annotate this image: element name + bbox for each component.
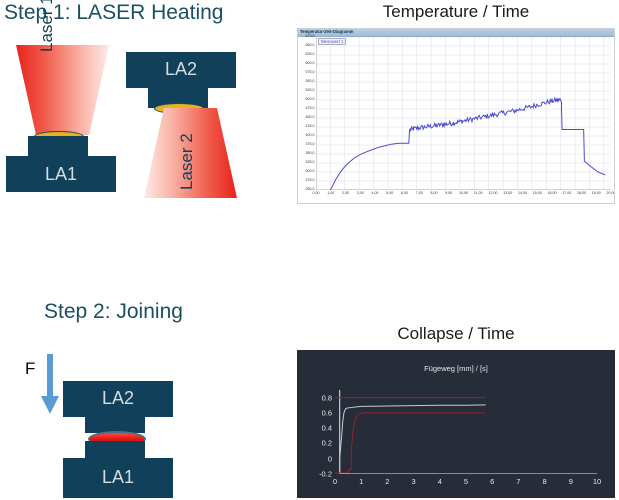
temperature-x-tick: 3,00 — [357, 192, 364, 196]
collapse-inner-title: Fügeweg [mm] / [s] — [297, 364, 615, 373]
collapse-chart-widget[interactable]: Fügeweg [mm] / [s] 0.80.60.40.20-0.20123… — [297, 350, 615, 498]
collapse-x-tick: 6 — [490, 478, 494, 486]
force-arrow-icon — [40, 354, 60, 416]
temperature-y-tick: 550,0 — [306, 80, 315, 84]
temperature-x-tick: 7,00 — [416, 192, 423, 196]
temperature-chart-titlebar: Temperatur-Zeit-Diagramm — [298, 29, 614, 37]
la1-upper-block — [28, 136, 88, 158]
s2-la1-label: LA1 — [63, 467, 173, 488]
collapse-y-tick: -0.2 — [319, 470, 332, 478]
temperature-x-tick: 4,00 — [372, 192, 379, 196]
temperature-y-tick: 475,0 — [306, 107, 315, 111]
temperature-x-tick: 16,00 — [548, 192, 557, 196]
step2-heading: Step 2: Joining — [44, 300, 183, 324]
temperature-x-tick: 9,00 — [445, 192, 452, 196]
temperature-x-tick: 13,00 — [503, 192, 512, 196]
s2-la2-upper-block: LA2 — [63, 381, 173, 417]
temperature-x-tick: 15,00 — [533, 192, 542, 196]
temperature-y-tick: 350,0 — [306, 152, 315, 156]
la2-upper-block: LA2 — [126, 52, 236, 88]
laser1-beam-cone — [10, 45, 115, 135]
temperature-chart-title: Temperature / Time — [296, 2, 616, 22]
s2-la2-label: LA2 — [63, 388, 173, 409]
temperature-y-tick: 300,0 — [306, 170, 315, 174]
temperature-y-tick: 575,0 — [306, 71, 315, 75]
collapse-series-measurement — [340, 405, 486, 474]
collapse-y-tick: 0.4 — [322, 424, 332, 432]
temperature-y-tick: 600,0 — [306, 62, 315, 66]
temperature-y-tick: 425,0 — [306, 125, 315, 129]
temperature-y-tick: 275,0 — [306, 179, 315, 183]
collapse-series-lower-limit — [335, 413, 486, 473]
temperature-y-tick: 675,0 — [306, 35, 315, 39]
temperature-y-tick: 525,0 — [306, 89, 315, 93]
collapse-x-tick: 3 — [412, 478, 416, 486]
laser2-label-text: Laser 2 — [177, 133, 196, 190]
temperature-x-tick: 20,00 — [607, 192, 616, 196]
temperature-x-tick: 5,00 — [386, 192, 393, 196]
temperature-y-tick: 450,0 — [306, 116, 315, 120]
temperature-y-tick: 500,0 — [306, 98, 315, 102]
collapse-x-tick: 0 — [333, 478, 337, 486]
laser2-label: Laser 2 — [177, 110, 197, 190]
temperature-x-tick: 2,00 — [342, 192, 349, 196]
collapse-x-tick: 7 — [516, 478, 520, 486]
temperature-x-tick: 8,00 — [431, 192, 438, 196]
laser1-label-text: Laser 1 — [37, 0, 56, 52]
temperature-x-tick: 6,00 — [401, 192, 408, 196]
la1-lower-block: LA1 — [6, 156, 116, 192]
temperature-x-tick: 14,00 — [518, 192, 527, 196]
temperature-chart-widget[interactable]: Temperatur-Zeit-Diagramm Messwert 1 675,… — [297, 28, 615, 204]
temperature-x-tick: 10,00 — [459, 192, 468, 196]
collapse-x-tick: 10 — [593, 478, 601, 486]
temperature-y-tick: 650,0 — [306, 44, 315, 48]
temperature-trace — [316, 37, 611, 190]
temperature-plot-area[interactable]: 675,0650,0625,0600,0575,0550,0525,0500,0… — [316, 37, 611, 190]
collapse-chart-title: Collapse / Time — [296, 324, 616, 344]
temperature-y-tick: 625,0 — [306, 53, 315, 57]
collapse-x-tick: 8 — [543, 478, 547, 486]
temperature-x-tick: 17,00 — [562, 192, 571, 196]
collapse-x-tick: 5 — [464, 478, 468, 486]
collapse-y-tick: 0 — [328, 455, 332, 463]
temperature-x-tick: 11,00 — [474, 192, 483, 196]
collapse-x-tick: 1 — [359, 478, 363, 486]
temperature-x-tick: 1,00 — [327, 192, 334, 196]
collapse-plot-area[interactable]: 0.80.60.40.20-0.2012345678910 — [335, 390, 597, 474]
la2-label: LA2 — [126, 59, 236, 80]
collapse-x-tick: 4 — [438, 478, 442, 486]
la1-label: LA1 — [6, 164, 116, 185]
collapse-traces — [335, 390, 597, 474]
temperature-y-tick: 325,0 — [306, 161, 315, 165]
s2-la1-lower-block: LA1 — [63, 458, 173, 498]
force-label: F — [25, 359, 35, 379]
collapse-y-tick: 0.6 — [322, 409, 332, 417]
laser1-label: Laser 1 — [37, 0, 57, 52]
temperature-y-tick: 400,0 — [306, 134, 315, 138]
temperature-x-tick: 18,00 — [577, 192, 586, 196]
temperature-x-tick: 19,00 — [592, 192, 601, 196]
temperature-x-tick: 0,00 — [313, 192, 320, 196]
collapse-x-tick: 2 — [385, 478, 389, 486]
collapse-y-tick: 0.2 — [322, 440, 332, 448]
collapse-y-tick: 0.8 — [322, 394, 332, 402]
temperature-y-tick: 375,0 — [306, 143, 315, 147]
temperature-x-tick: 12,00 — [489, 192, 498, 196]
collapse-x-tick: 9 — [569, 478, 573, 486]
